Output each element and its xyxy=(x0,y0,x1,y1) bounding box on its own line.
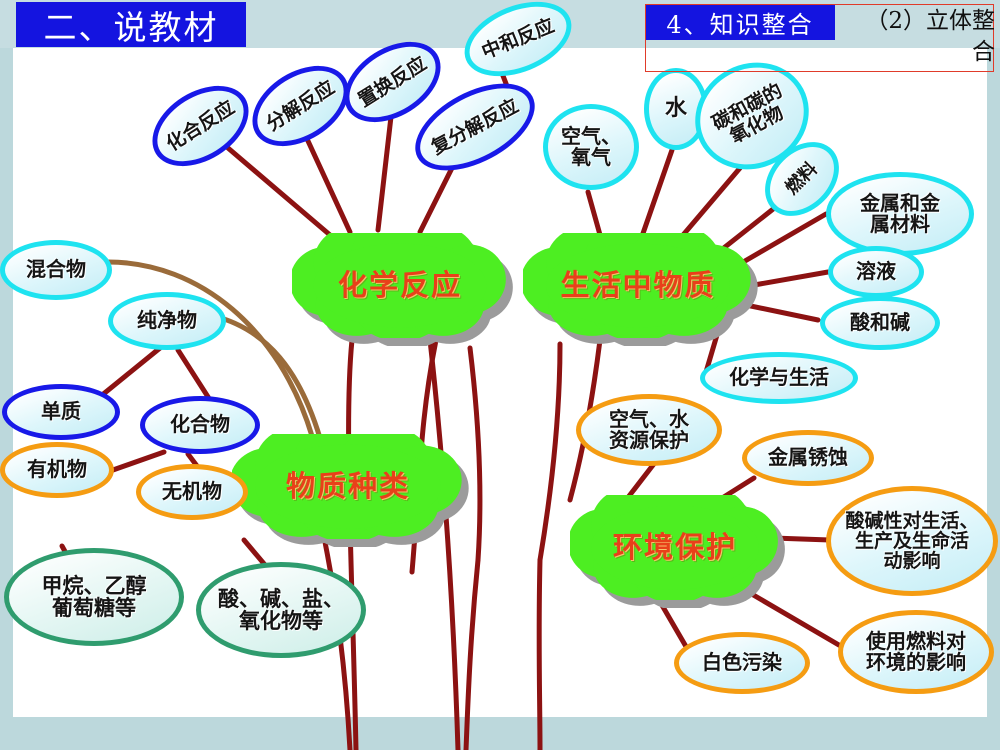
bubble-label: 酸碱性对生活、 生产及生命活 动影响 xyxy=(845,511,978,571)
subtitle-label: （2）立体整合 xyxy=(843,6,995,68)
bubble-label: 化学与生活 xyxy=(729,367,829,388)
bubble-node-air-oxygen[interactable]: 空气、 氧气 xyxy=(543,104,639,190)
connector-line xyxy=(470,348,480,560)
bubble-label: 白色污染 xyxy=(702,652,782,673)
bubble-node-metal-corrosion[interactable]: 金属锈蚀 xyxy=(742,430,874,486)
bubble-label: 中和反应 xyxy=(479,15,557,62)
bubble-node-methane-ethanol[interactable]: 甲烷、乙醇 葡萄糖等 xyxy=(4,548,184,646)
bubble-label: 水 xyxy=(665,97,687,120)
bubble-label: 酸和碱 xyxy=(850,312,910,333)
cloud-node-env-protection[interactable]: 环境保护 xyxy=(570,495,780,600)
bubble-node-compound[interactable]: 化合物 xyxy=(140,396,260,454)
bubble-label: 混合物 xyxy=(26,259,86,280)
cloud-label: 生活中物质 xyxy=(560,270,715,301)
bubble-node-acid-and-base[interactable]: 酸和碱 xyxy=(820,296,940,350)
bubble-label: 使用燃料对 环境的影响 xyxy=(866,631,966,673)
connector-line xyxy=(178,350,210,400)
bubble-node-inorganic[interactable]: 无机物 xyxy=(136,464,248,520)
bubble-node-chemistry-and-life[interactable]: 化学与生活 xyxy=(700,352,858,404)
cloud-label: 物质种类 xyxy=(286,471,410,502)
bubble-node-mixture[interactable]: 混合物 xyxy=(0,240,112,300)
bubble-label: 化合物 xyxy=(170,414,230,435)
cloud-label: 化学反应 xyxy=(338,270,462,301)
bubble-node-pure-substance[interactable]: 纯净物 xyxy=(108,292,226,350)
bubble-node-organic[interactable]: 有机物 xyxy=(0,442,114,498)
cloud-label: 环境保护 xyxy=(613,532,737,563)
bubble-node-acid-base-salt-oxide[interactable]: 酸、碱、盐、 氧化物等 xyxy=(196,562,366,658)
connector-line xyxy=(539,560,540,750)
bubble-label: 有机物 xyxy=(27,459,87,480)
bubble-label: 酸、碱、盐、 氧化物等 xyxy=(218,588,344,633)
bubble-label: 分解反应 xyxy=(263,77,338,134)
bubble-node-fuel-environment[interactable]: 使用燃料对 环境的影响 xyxy=(838,610,994,694)
cloud-node-substance-types[interactable]: 物质种类 xyxy=(232,434,464,539)
bubble-label: 空气、水 资源保护 xyxy=(609,409,689,451)
bubble-label: 空气、 氧气 xyxy=(561,126,621,168)
bubble-label: 置换反应 xyxy=(355,53,430,110)
bubble-label: 溶液 xyxy=(856,261,896,282)
cloud-node-chemical-reaction[interactable]: 化学反应 xyxy=(292,233,508,338)
connector-line xyxy=(96,348,160,400)
bubble-node-white-pollution[interactable]: 白色污染 xyxy=(674,632,810,694)
page-title-right: 4、知识整合 xyxy=(645,4,835,40)
connector-line xyxy=(378,108,392,230)
bubble-node-metals-and-materials[interactable]: 金属和金 属材料 xyxy=(826,172,974,256)
bubble-node-air-water-resource[interactable]: 空气、水 资源保护 xyxy=(576,394,722,466)
connector-line xyxy=(540,344,560,560)
bubble-label: 单质 xyxy=(41,401,81,422)
cloud-node-life-substances[interactable]: 生活中物质 xyxy=(523,233,753,338)
bubble-label: 金属锈蚀 xyxy=(768,447,848,468)
connector-line xyxy=(640,150,672,242)
bubble-label: 甲烷、乙醇 葡萄糖等 xyxy=(42,575,147,620)
bubble-label: 金属和金 属材料 xyxy=(860,193,940,235)
bubble-node-solution[interactable]: 溶液 xyxy=(828,246,924,298)
bubble-label: 无机物 xyxy=(162,481,222,502)
slide-canvas: 化学反应生活中物质物质种类环境保护化合反应分解反应置换反应复分解反应中和反应空气… xyxy=(0,0,1000,750)
bubble-node-acidity-effect[interactable]: 酸碱性对生活、 生产及生命活 动影响 xyxy=(826,486,998,596)
bubble-label: 碳和碳的 氧化物 xyxy=(709,80,795,151)
connector-line xyxy=(466,560,478,750)
page-title-left: 二、说教材 xyxy=(16,2,246,47)
bubble-label: 燃料 xyxy=(783,160,822,199)
bubble-label: 纯净物 xyxy=(137,310,197,331)
bubble-label: 化合反应 xyxy=(163,97,238,154)
bubble-node-element[interactable]: 单质 xyxy=(2,384,120,440)
